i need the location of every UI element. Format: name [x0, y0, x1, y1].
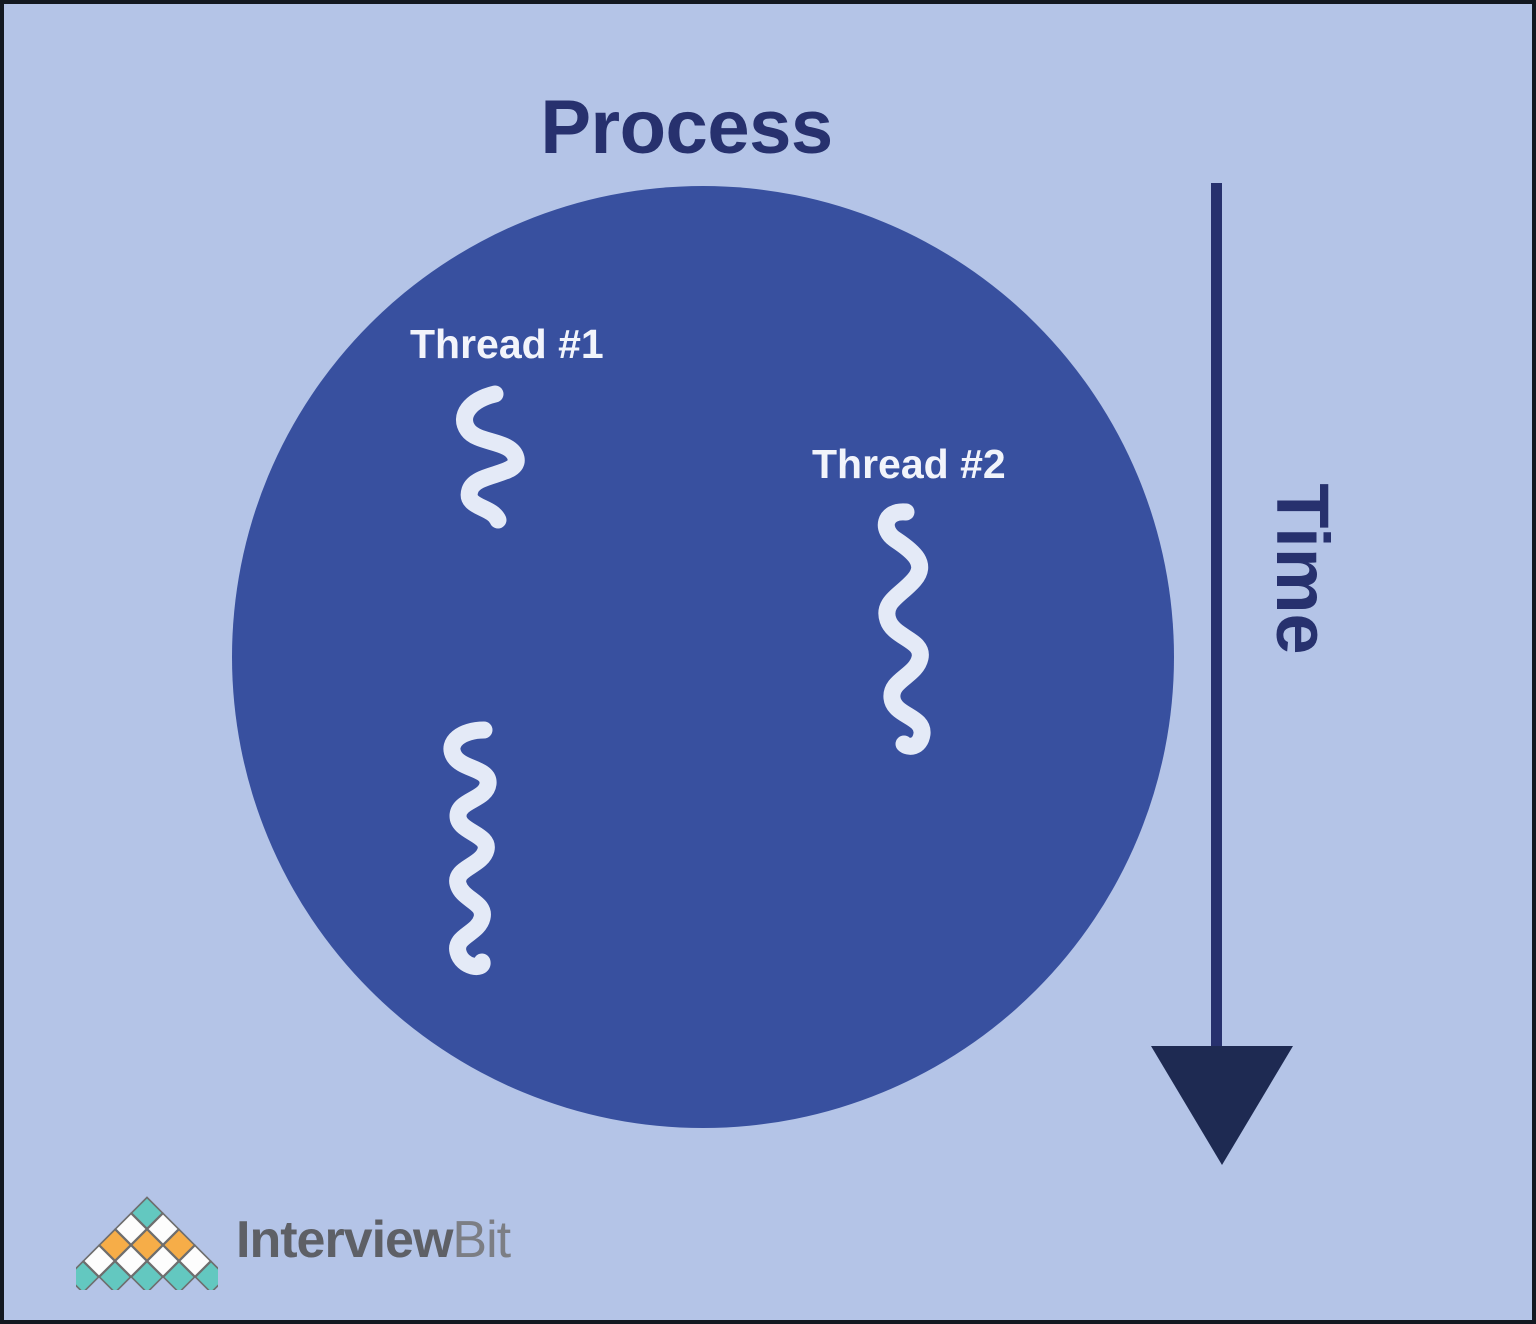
interviewbit-logo: InterviewBit [76, 1190, 510, 1290]
time-arrow-head-icon [1151, 1046, 1293, 1165]
thread-1-label: Thread #1 [410, 324, 604, 365]
time-axis-label: Time [1265, 449, 1339, 689]
thread-3-squiggle-icon [432, 716, 532, 988]
logo-word-interview: Interview [236, 1211, 452, 1269]
page-title: Process [4, 90, 1369, 166]
interviewbit-logo-mark-icon [76, 1190, 218, 1290]
thread-2-label: Thread #2 [812, 444, 1006, 485]
process-circle [232, 186, 1174, 1128]
diagram-canvas: Process Thread #1 Thread #2 Time [0, 0, 1536, 1324]
thread-2-squiggle-icon [870, 498, 960, 760]
interviewbit-wordmark: InterviewBit [236, 1214, 510, 1266]
time-arrow-shaft [1211, 183, 1222, 1063]
logo-word-bit: Bit [452, 1211, 510, 1269]
thread-1-squiggle-icon [440, 382, 540, 537]
